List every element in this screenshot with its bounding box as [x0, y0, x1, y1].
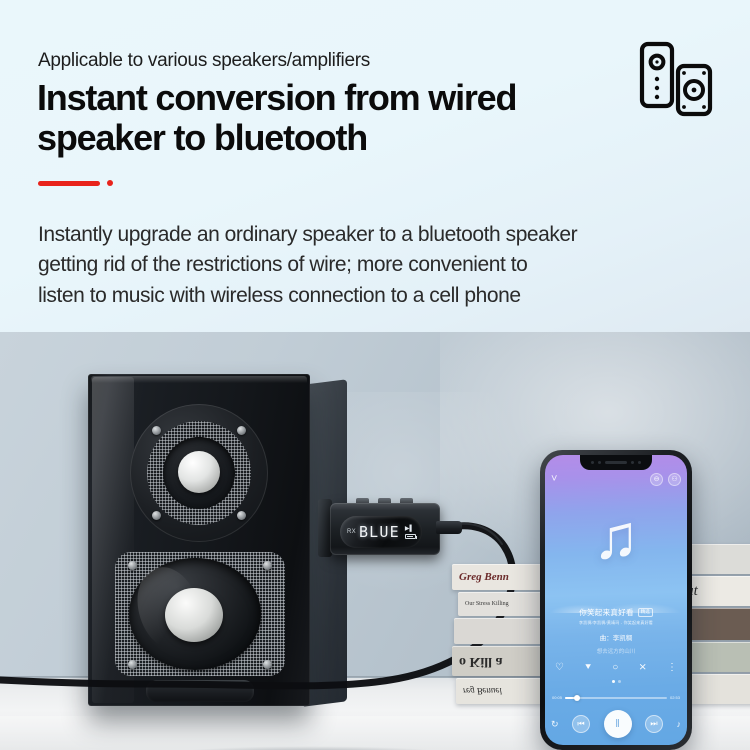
screw-icon — [237, 426, 246, 435]
woofer-driver — [115, 552, 285, 676]
screw-icon — [263, 660, 272, 669]
aux-jack-connector — [436, 521, 462, 534]
play-indicator-icon: ▶▌ — [405, 526, 416, 532]
screw-icon — [263, 561, 272, 570]
screw-icon — [152, 426, 161, 435]
screw-icon — [152, 511, 161, 520]
progress-knob[interactable] — [574, 695, 580, 701]
top-button-group: ⊖ ⚇ — [650, 473, 681, 486]
previous-button[interactable]: ⏮ — [572, 715, 590, 733]
screw-icon — [128, 660, 137, 669]
wall-texture — [330, 392, 570, 592]
phone-notch — [580, 455, 652, 470]
action-row: ♡ ⯆ ○ ⨯ ⋮ — [555, 663, 677, 673]
page-dot[interactable] — [618, 680, 621, 683]
player-top-bar: ˅ ⊖ ⚇ — [551, 473, 681, 486]
body-copy: Instantly upgrade an ordinary speaker to… — [38, 220, 728, 311]
progress-row: 00:05 02:53 — [552, 695, 680, 700]
tweeter-driver — [130, 404, 268, 542]
bass-port — [146, 680, 254, 702]
page-title: Instant conversion from wired speaker to… — [37, 78, 637, 159]
receiver-body: RX BLUE ▶▌ — [330, 503, 440, 555]
playlist-icon[interactable]: ♪ — [676, 720, 681, 729]
download-icon[interactable]: ⯆ — [584, 663, 592, 673]
song-subtitle: 李凯稠/李凯稠/黄靖玛 - 你笑起来真好看 — [545, 620, 687, 626]
play-pause-button[interactable]: ‖ — [604, 710, 632, 738]
product-photo-scene: Greg Benn Our Stress Killing o Kill a re… — [0, 332, 750, 750]
share-icon[interactable]: ⨯ — [638, 663, 646, 673]
body-line-1: Instantly upgrade an ordinary speaker to… — [38, 220, 728, 250]
book-title: reg Benuel — [456, 686, 502, 696]
playback-controls: ↻ ⏮ ‖ ⏭ ♪ — [551, 710, 681, 738]
body-line-2: getting rid of the restrictions of wire;… — [38, 250, 728, 280]
comment-icon[interactable]: ○ — [612, 663, 618, 673]
elapsed-time: 00:05 — [552, 695, 562, 700]
page-dot-active[interactable] — [612, 680, 615, 683]
more-icon[interactable]: ⋮ — [667, 663, 677, 673]
song-title-row: 你笑起来真好看 精选 — [545, 607, 687, 618]
total-time: 02:53 — [670, 695, 680, 700]
book-title: Greg Benn — [452, 571, 509, 583]
accent-dot — [107, 180, 113, 186]
camera-icon — [591, 461, 594, 464]
progress-slider[interactable] — [565, 697, 667, 699]
camera-icon — [638, 461, 641, 464]
display-status-text: BLUE — [359, 525, 400, 540]
display-indicators: ▶▌ — [405, 526, 416, 539]
product-banner: Applicable to various speakers/amplifier… — [0, 0, 750, 750]
song-artist: 曲：李凯稠 — [545, 632, 687, 642]
smartphone: ˅ ⊖ ⚇ ♫ 你笑起来真好看 精选 李凯稠/李凯稠/黄靖玛 - 你笑起来真好看… — [540, 450, 692, 750]
song-title: 你笑起来真好看 — [579, 607, 634, 618]
battery-icon — [405, 534, 416, 539]
black-bookshelf-speaker — [88, 374, 338, 709]
speaker-front-panel — [88, 374, 310, 706]
screw-icon — [237, 511, 246, 520]
phone-screen[interactable]: ˅ ⊖ ⚇ ♫ 你笑起来真好看 精选 李凯稠/李凯稠/黄靖玛 - 你笑起来真好看… — [545, 455, 687, 745]
cast-button[interactable]: ⊖ — [650, 473, 663, 486]
book-title: o Kill a — [452, 653, 503, 669]
woofer-dome — [165, 588, 223, 642]
tweeter-dome — [178, 451, 220, 493]
like-icon[interactable]: ♡ — [555, 663, 564, 673]
repeat-icon[interactable]: ↻ — [551, 720, 559, 729]
headline-line-2: speaker to bluetooth — [37, 117, 367, 158]
sensor-icon — [631, 461, 634, 464]
song-info: 你笑起来真好看 精选 李凯稠/李凯稠/黄靖玛 - 你笑起来真好看 曲：李凯稠 想… — [545, 607, 687, 655]
receiver-display: RX BLUE ▶▌ — [340, 516, 422, 548]
more-circle-button[interactable]: ⚇ — [668, 473, 681, 486]
accent-divider — [38, 180, 113, 186]
book-title: Our Stress Killing — [458, 601, 509, 607]
sensor-icon — [598, 461, 601, 464]
song-lyric-line: 想去远方的山川 — [545, 647, 687, 655]
eyebrow-text: Applicable to various speakers/amplifier… — [38, 50, 370, 72]
accent-bar — [38, 181, 100, 186]
music-note-icon: ♫ — [593, 507, 640, 569]
status-badge: 精选 — [638, 608, 653, 617]
next-button[interactable]: ⏭ — [645, 715, 663, 733]
body-line-3: listen to music with wireless connection… — [38, 281, 728, 311]
headline-line-1: Instant conversion from wired — [37, 77, 516, 118]
header-section: Applicable to various speakers/amplifier… — [0, 0, 750, 332]
speaker-grille-icon — [605, 461, 627, 464]
page-indicator — [545, 680, 687, 683]
screw-icon — [128, 561, 137, 570]
chevron-down-icon[interactable]: ˅ — [551, 474, 557, 485]
speaker-pair-icon — [636, 38, 722, 124]
bluetooth-receiver-device: RX BLUE ▶▌ — [330, 497, 450, 559]
display-rx-label: RX — [347, 529, 356, 535]
